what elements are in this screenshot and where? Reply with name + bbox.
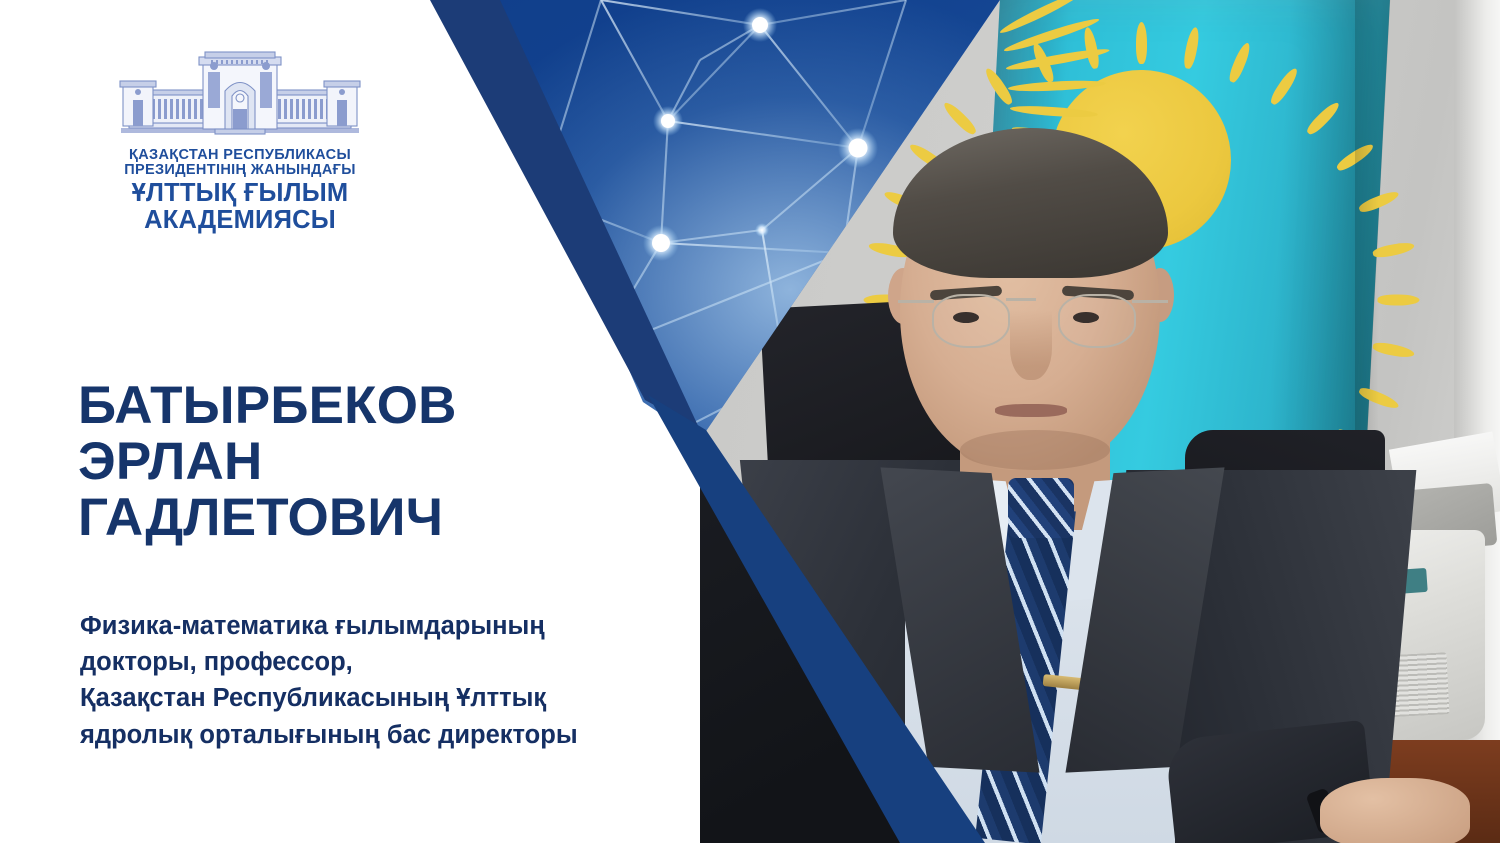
hand: [1320, 778, 1470, 843]
flag-sun-ray: [1377, 295, 1419, 306]
mouth: [995, 404, 1067, 417]
left-content-column: ҚАЗАҚСТАН РЕСПУБЛИКАСЫ ПРЕЗИДЕНТІНІҢ ЖАН…: [0, 0, 470, 843]
nose: [1010, 310, 1052, 380]
eyeglass-temple-left: [898, 300, 934, 303]
person-name-line-2: ЭРЛАН: [78, 434, 638, 490]
person-name-line-1: БАТЫРБЕКОВ: [78, 378, 638, 434]
academy-logo[interactable]: ҚАЗАҚСТАН РЕСПУБЛИКАСЫ ПРЕЗИДЕНТІНІҢ ЖАН…: [70, 44, 410, 233]
academy-logo-line-2: ПРЕЗИДЕНТІНІҢ ЖАНЫНДАҒЫ: [70, 163, 410, 178]
person-name-line-3: ГАДЛЕТОВИЧ: [78, 490, 638, 546]
poster-canvas: ҚАЗАҚСТАН РЕСПУБЛИКАСЫ ПРЕЗИДЕНТІНІҢ ЖАН…: [0, 0, 1500, 843]
chin-shadow: [960, 430, 1110, 470]
academy-logo-text: ҚАЗАҚСТАН РЕСПУБЛИКАСЫ ПРЕЗИДЕНТІНІҢ ЖАН…: [70, 148, 410, 233]
eyeglass-lens-left: [932, 294, 1010, 348]
person-description-line-1: Физика-математика ғылымдарының: [80, 608, 780, 644]
eyeglass-bridge: [1006, 298, 1036, 301]
person-description: Физика-математика ғылымдарының докторы, …: [80, 608, 780, 753]
person-description-line-4: ядролық орталығының бас директоры: [80, 717, 780, 753]
person-description-line-2: докторы, профессор,: [80, 644, 780, 680]
eyeglass-lens-right: [1058, 294, 1136, 348]
necktie-knot: [1008, 478, 1074, 538]
person-description-line-3: Қазақстан Республикасының Ұлттық: [80, 680, 780, 716]
flag-sun-ray: [1136, 22, 1147, 64]
academy-logo-line-3: ҰЛТТЫҚ ҒЫЛЫМ: [70, 180, 410, 207]
eyeglass-temple-right: [1132, 300, 1168, 303]
academy-logo-line-4: АКАДЕМИЯСЫ: [70, 207, 410, 234]
person-name: БАТЫРБЕКОВ ЭРЛАН ГАДЛЕТОВИЧ: [78, 378, 638, 547]
academy-logo-line-1: ҚАЗАҚСТАН РЕСПУБЛИКАСЫ: [70, 148, 410, 163]
academy-building-emblem-icon: [115, 44, 365, 140]
